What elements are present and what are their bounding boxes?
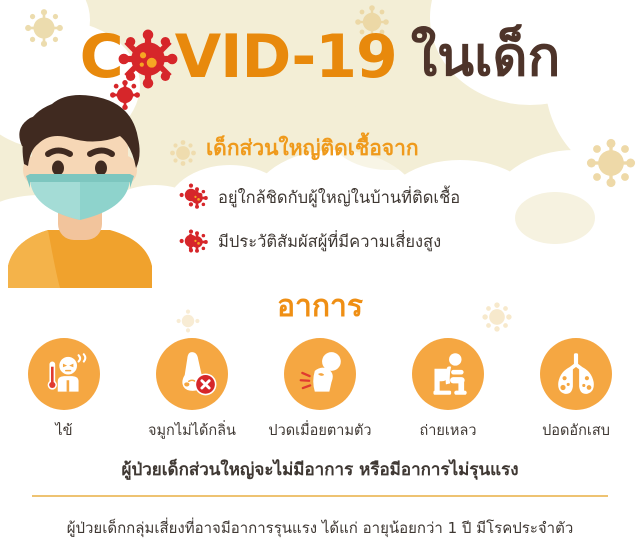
symptom-item-fever: ไข้	[5, 338, 123, 442]
symptom-label: ปอดอักเสบ	[542, 419, 610, 442]
symptom-label: ปวดเมื่อยตามตัว	[268, 419, 371, 442]
footer-note: ผู้ป่วยเด็กส่วนใหญ่จะไม่มีอาการ หรือมีอา…	[0, 456, 640, 483]
title-text-vid: VID-19	[175, 27, 397, 87]
fever-icon	[28, 338, 100, 410]
list-item-label: อยู่ใกล้ชิดกับผู้ใหญ่ในบ้านที่ติดเชื้อ	[218, 185, 460, 211]
virus-bullet-icon	[186, 231, 208, 253]
title-text-thai: ในเด็ก	[411, 30, 561, 84]
symptom-label: ถ่ายเหลว	[420, 419, 477, 442]
symptom-label: ไข้	[55, 419, 72, 442]
symptoms-heading: อาการ	[0, 283, 640, 330]
body-ache-icon	[284, 338, 356, 410]
decorative-virus-icon	[168, 138, 198, 168]
symptom-item-diarrhea: ถ่ายเหลว	[389, 338, 507, 442]
list-item: อยู่ใกล้ชิดกับผู้ใหญ่ในบ้านที่ติดเชื้อ	[186, 185, 626, 211]
decorative-virus-icon	[583, 135, 639, 191]
symptom-label: จมูกไม่ได้กลิ่น	[148, 419, 236, 442]
no-smell-icon	[156, 338, 228, 410]
masked-child-illustration	[0, 88, 160, 288]
list-item: มีประวัติสัมผัสผู้ที่มีความเสี่ยงสูง	[186, 229, 626, 255]
infection-source-heading: เด็กส่วนใหญ่ติดเชื้อจาก	[206, 132, 419, 165]
lungs-icon	[540, 338, 612, 410]
symptom-item-body-ache: ปวดเมื่อยตามตัว	[261, 338, 379, 442]
page-title: C VID-	[0, 22, 640, 92]
symptom-item-pneumonia: ปอดอักเสบ	[517, 338, 635, 442]
divider	[32, 495, 608, 497]
infographic-root: C VID-	[0, 0, 640, 549]
infection-source-list: อยู่ใกล้ชิดกับผู้ใหญ่ในบ้านที่ติดเชื้อ	[186, 185, 626, 273]
virus-bullet-icon	[186, 187, 208, 209]
list-item-label: มีประวัติสัมผัสผู้ที่มีความเสี่ยงสูง	[218, 229, 441, 255]
virus-icon	[117, 28, 179, 90]
footer-risk-text: ผู้ป่วยเด็กกลุ่มเสี่ยงที่อาจมีอาการรุนแร…	[0, 516, 640, 540]
symptom-item-no-smell: จมูกไม่ได้กลิ่น	[133, 338, 251, 442]
symptoms-list: ไข้ จมูกไม่ได้กลิ่น	[0, 338, 640, 442]
diarrhea-icon	[412, 338, 484, 410]
